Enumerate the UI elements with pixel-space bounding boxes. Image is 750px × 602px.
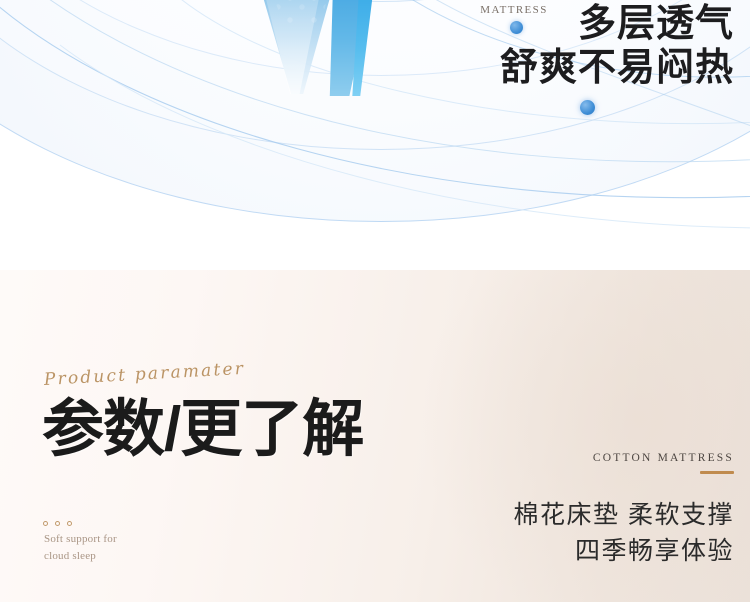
hero-headline: 多层透气 舒爽不易闷热 [500, 2, 734, 90]
accent-dot-lower [580, 100, 595, 115]
hero-headline-line-2: 舒爽不易闷热 [500, 46, 734, 90]
brand-info-block: COTTON MATTRESS 棉花床垫 柔软支撑 四季畅享体验 [514, 452, 734, 569]
brand-description-line-2: 四季畅享体验 [514, 534, 734, 570]
ornament-dot-2 [55, 521, 60, 526]
tagline-english: Soft support for cloud sleep [44, 531, 117, 565]
three-dots-ornament [43, 521, 72, 526]
tagline-line-2: cloud sleep [44, 548, 117, 565]
hero-headline-line-1: 多层透气 [500, 2, 734, 46]
brand-description: 棉花床垫 柔软支撑 四季畅享体验 [514, 498, 734, 569]
brand-name-english: COTTON MATTRESS [514, 452, 734, 464]
ornament-dot-3 [67, 521, 72, 526]
brand-description-line-1: 棉花床垫 柔软支撑 [514, 498, 734, 534]
blue-fabric-cone [236, 0, 446, 94]
product-detail-page: COTTON MATTRESS 多层透气 舒爽不易闷热 Product para… [0, 0, 750, 602]
ornament-dot-1 [43, 521, 48, 526]
section-title: 参数/更了解 [42, 398, 363, 461]
brand-underline-bar [700, 471, 734, 474]
hero-section: COTTON MATTRESS 多层透气 舒爽不易闷热 [0, 0, 750, 270]
tagline-line-1: Soft support for [44, 531, 117, 548]
